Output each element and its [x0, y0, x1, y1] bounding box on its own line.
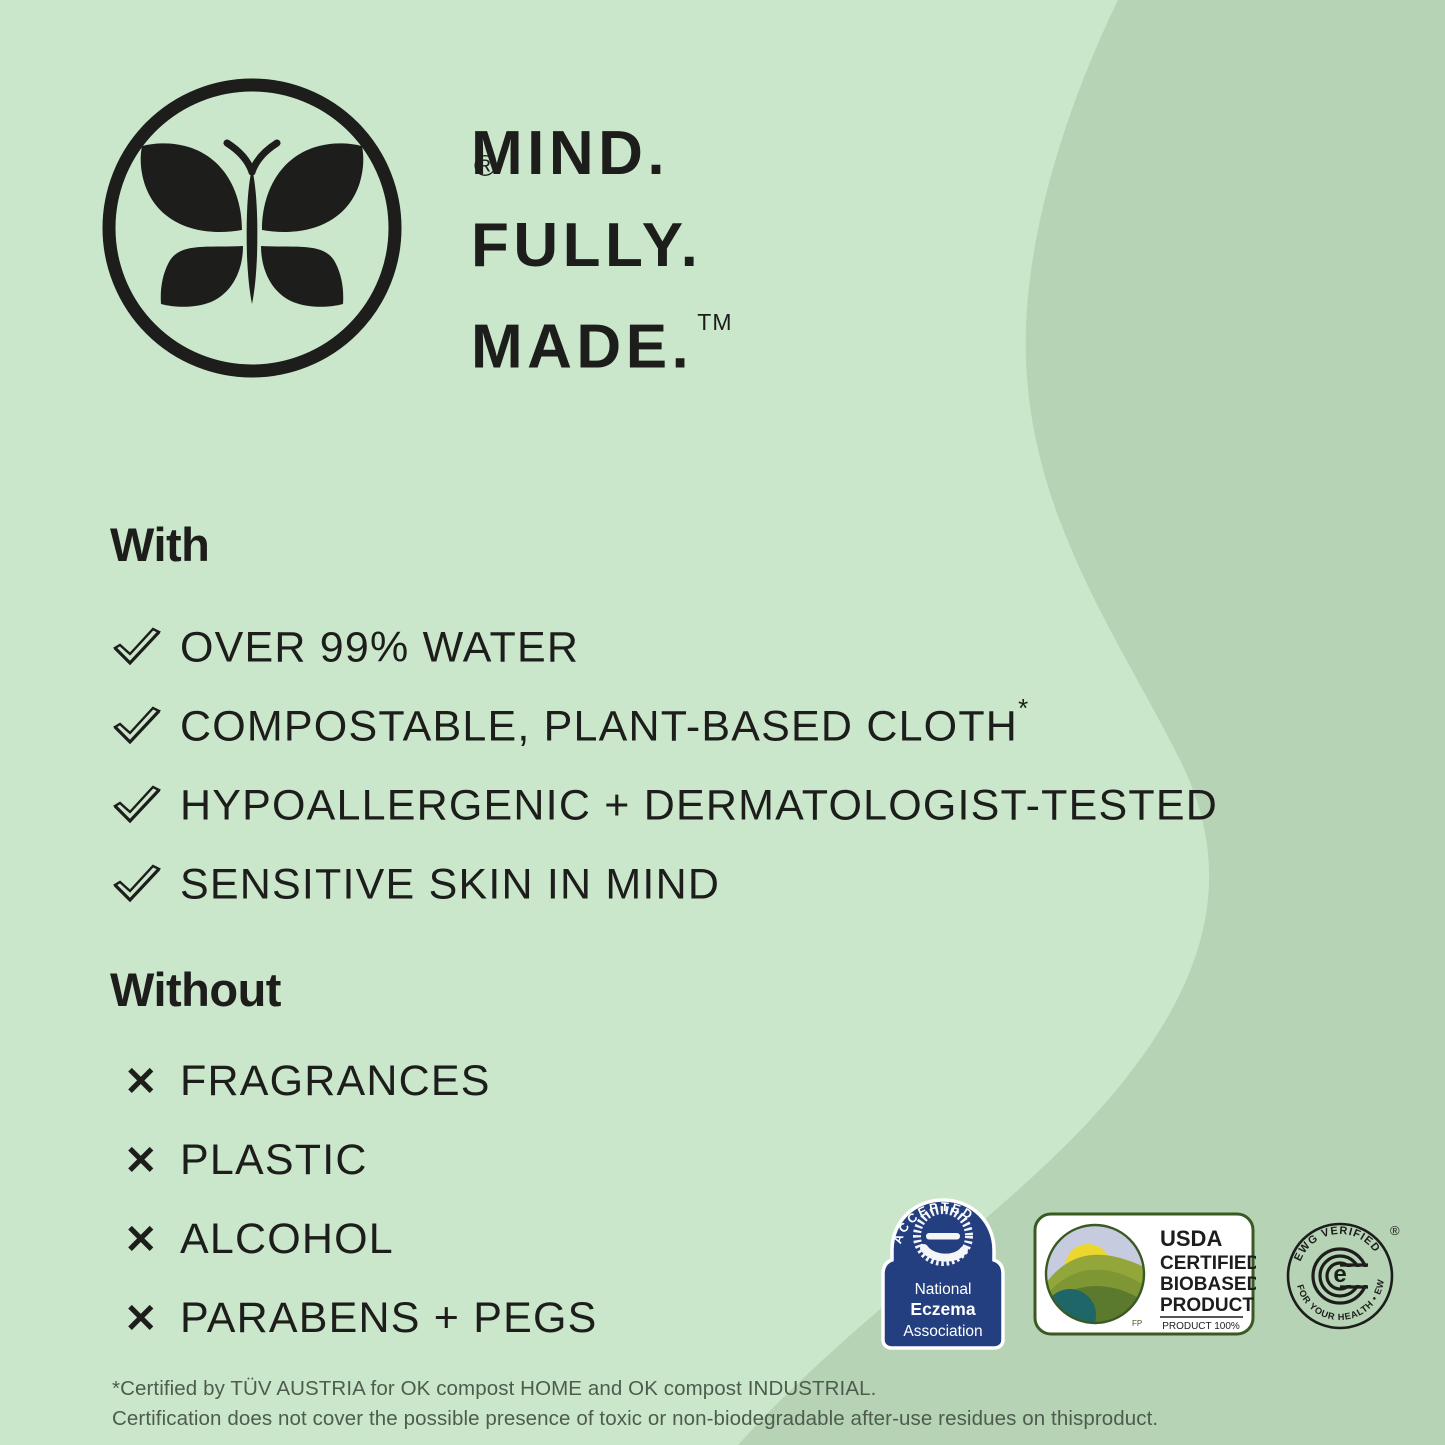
national-eczema-association-badge: ACCEPTED National Eczema Association — [880, 1198, 1006, 1350]
list-item-label: SENSITIVE SKIN IN MIND — [180, 859, 720, 909]
nea-line-1: National — [915, 1281, 972, 1298]
outline-check-icon — [112, 864, 180, 906]
footnote-block: *Certified by TÜV AUSTRIA for OK compost… — [112, 1374, 1158, 1434]
certification-badge-row: ACCEPTED National Eczema Association — [880, 1198, 1404, 1350]
product-claims-panel: ® MIND. FULLY. MADE.TM With OVER 99% WAT… — [0, 0, 1445, 1445]
without-exclusion-list: ✕ FRAGRANCES ✕ PLASTIC ✕ ALCOHOL ✕ PARAB… — [112, 1042, 598, 1358]
without-section-title: Without — [110, 962, 281, 1017]
with-benefit-list: OVER 99% WATER COMPOSTABLE, PLANT-BASED … — [112, 608, 1218, 924]
list-item: ✕ PLASTIC — [112, 1121, 598, 1200]
list-item: HYPOALLERGENIC + DERMATOLOGIST-TESTED — [112, 766, 1218, 845]
list-item: OVER 99% WATER — [112, 608, 1218, 687]
ewg-registered-mark: ® — [1390, 1223, 1400, 1238]
usda-line-4: PRODUCT — [1160, 1295, 1254, 1316]
list-item: ✕ PARABENS + PEGS — [112, 1279, 598, 1358]
list-item-label: HYPOALLERGENIC + DERMATOLOGIST-TESTED — [180, 780, 1218, 830]
butterfly-in-circle-logo-icon — [96, 72, 408, 384]
usda-line-1: USDA — [1160, 1226, 1222, 1251]
list-item-label: FRAGRANCES — [180, 1057, 491, 1106]
footnote-line-1: *Certified by TÜV AUSTRIA for OK compost… — [112, 1374, 1158, 1404]
list-item-label: COMPOSTABLE, PLANT-BASED CLOTH* — [180, 701, 1029, 751]
nea-line-3: Association — [903, 1323, 982, 1340]
usda-corner-code: FP — [1132, 1319, 1142, 1328]
usda-line-2: CERTIFIED — [1160, 1253, 1256, 1274]
usda-line-3: BIOBASED — [1160, 1274, 1256, 1295]
x-mark-icon: ✕ — [112, 1062, 180, 1102]
outline-check-icon — [112, 627, 180, 669]
list-item-label: PLASTIC — [180, 1136, 368, 1185]
trademark-symbol: TM — [697, 309, 732, 335]
ewg-verified-badge: EWG VERIFIED FOR YOUR HEALTH • EWG.ORG e… — [1282, 1213, 1404, 1335]
usda-certified-biobased-product-badge: FP USDA CERTIFIED BIOBASED PRODUCT PRODU… — [1032, 1211, 1256, 1337]
usda-sub-text: PRODUCT 100% — [1162, 1321, 1240, 1332]
list-item-label: OVER 99% WATER — [180, 622, 579, 672]
brand-line-3-row: MADE.TM — [471, 292, 729, 394]
list-item: SENSITIVE SKIN IN MIND — [112, 845, 1218, 924]
brand-line-2: FULLY. — [471, 200, 729, 292]
brand-line-1: MIND. — [471, 108, 729, 200]
ewg-e-mark: e — [1333, 1261, 1346, 1288]
nea-line-2: Eczema — [910, 1299, 975, 1319]
list-item: ✕ ALCOHOL — [112, 1200, 598, 1279]
list-item: COMPOSTABLE, PLANT-BASED CLOTH* — [112, 687, 1218, 766]
with-section-title: With — [110, 517, 209, 572]
footnote-line-2: Certification does not cover the possibl… — [112, 1404, 1158, 1434]
brand-wordmark: MIND. FULLY. MADE.TM — [471, 108, 729, 394]
x-mark-icon: ✕ — [112, 1299, 180, 1339]
list-item-label: ALCOHOL — [180, 1215, 394, 1264]
brand-logo-block: ® MIND. FULLY. MADE.TM — [96, 66, 796, 396]
list-item: ✕ FRAGRANCES — [112, 1042, 598, 1121]
x-mark-icon: ✕ — [112, 1141, 180, 1181]
outline-check-icon — [112, 785, 180, 827]
x-mark-icon: ✕ — [112, 1220, 180, 1260]
outline-check-icon — [112, 706, 180, 748]
list-item-label: PARABENS + PEGS — [180, 1294, 598, 1343]
brand-line-3: MADE. — [471, 313, 693, 382]
